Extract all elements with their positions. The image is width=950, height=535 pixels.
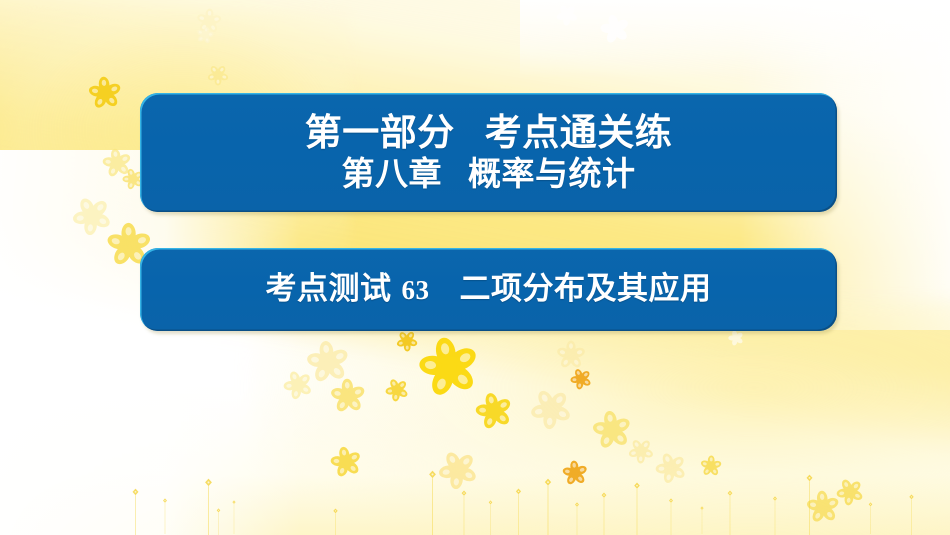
test-topic: 二项分布及其应用 xyxy=(460,271,712,306)
subject-banner: 考点测试63二项分布及其应用 xyxy=(140,248,837,331)
part-subtitle: 考点通关练 xyxy=(485,112,673,153)
part-label: 第一部分 xyxy=(305,112,455,153)
test-label: 考点测试 xyxy=(266,271,392,306)
title-line-part-2: 第八章概率与统计 xyxy=(342,157,636,192)
chapter-subtitle: 概率与统计 xyxy=(468,155,636,192)
chapter-label: 第八章 xyxy=(342,155,443,192)
slide-canvas: 第一部分考点通关练 第八章概率与统计 考点测试63二项分布及其应用 xyxy=(0,0,950,535)
subject-line: 考点测试63二项分布及其应用 xyxy=(266,273,712,306)
test-number: 63 xyxy=(402,275,430,305)
title-banner: 第一部分考点通关练 第八章概率与统计 xyxy=(140,93,837,212)
background-fade-top-right xyxy=(520,0,950,78)
title-line-part-1: 第一部分考点通关练 xyxy=(305,113,673,152)
